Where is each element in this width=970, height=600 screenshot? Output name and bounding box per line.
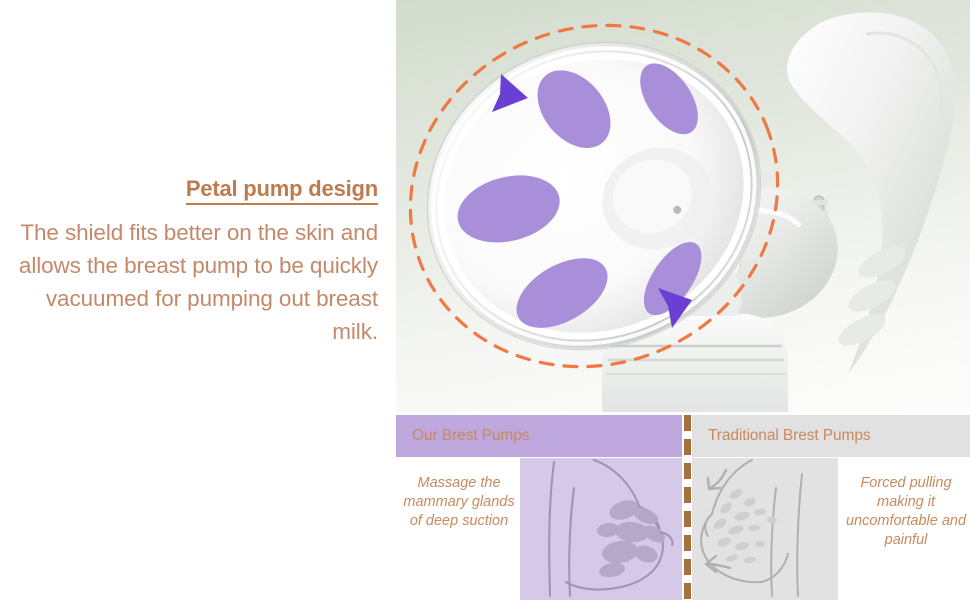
comparison-panel-traditional: Traditional Brest Pumps bbox=[692, 412, 970, 600]
page-title-text: Petal pump design bbox=[186, 176, 378, 205]
comparison-caption-ours: Massage the mammary glands of deep sucti… bbox=[402, 474, 516, 531]
forced-pulling-diagram bbox=[692, 458, 838, 600]
comparison-caption-traditional: Forced pulling making it uncomfortable a… bbox=[842, 474, 970, 550]
pump-handle bbox=[787, 12, 955, 374]
page-title: Petal pump design bbox=[0, 176, 378, 202]
massaging-glands-diagram bbox=[520, 458, 682, 600]
product-feature-banner: Petal pump design The shield fits better… bbox=[0, 0, 970, 600]
comparison-header-ours: Our Brest Pumps bbox=[396, 415, 682, 457]
comparison-title-traditional: Traditional Brest Pumps bbox=[692, 427, 871, 445]
comparison-section: Our Brest Pumps bbox=[396, 412, 970, 600]
product-photo bbox=[396, 0, 970, 412]
comparison-panel-ours: Our Brest Pumps bbox=[396, 412, 682, 600]
product-photo-illustration bbox=[396, 0, 970, 412]
comparison-divider bbox=[684, 415, 691, 600]
illustration-ours bbox=[520, 458, 682, 600]
illustration-traditional bbox=[692, 458, 838, 600]
feature-description: The shield fits better on the skin and a… bbox=[0, 216, 378, 348]
stretched-glands bbox=[712, 487, 777, 564]
comparison-header-traditional: Traditional Brest Pumps bbox=[692, 415, 970, 457]
feature-text-column: Petal pump design The shield fits better… bbox=[0, 0, 396, 600]
comparison-title-ours: Our Brest Pumps bbox=[396, 427, 529, 445]
